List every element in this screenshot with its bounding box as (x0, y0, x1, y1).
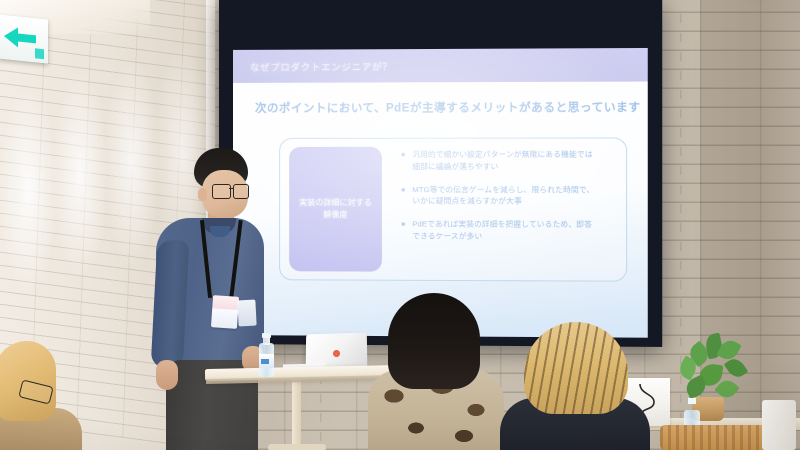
lanyard (202, 220, 242, 304)
bullet-text: PdEであれば実装の詳細を把握しているため、即答 できるケースが多い (412, 218, 592, 242)
bullet-text-line2: できるケースが多い (412, 231, 482, 240)
slide-purple-card: 実装の詳細に対する 解像度 (289, 147, 382, 272)
table-base (268, 444, 326, 450)
running-person-icon (35, 48, 44, 59)
id-badge-secondary (237, 300, 256, 327)
bullet-text-line2: いかに疑問点を減らすかが大事 (412, 196, 522, 205)
water-bottle-table (259, 333, 274, 377)
bullet-dot-icon: ● (399, 218, 407, 242)
presenter-hand-left (156, 360, 178, 390)
audience-member-dark-hair (388, 293, 480, 389)
presenter-ear (198, 188, 207, 201)
bullet-text: MTG等での伝言ゲームを減らし、限られた時間で、 いかに疑問点を減らすかが大事 (412, 184, 594, 208)
exit-arrow-left-icon (2, 24, 38, 52)
purple-card-label: 実装の詳細に対する 解像度 (294, 197, 377, 221)
bullet-text-line2: 細部に議論が落ちやすい (412, 162, 498, 171)
bullet-text-line1: MTG等での伝言ゲームを減らし、限られた時間で、 (412, 185, 594, 194)
slide-bullet-item: ● MTG等での伝言ゲームを減らし、限られた時間で、 いかに疑問点を減らすかが大… (399, 184, 618, 208)
purple-card-label-line2: 解像度 (323, 210, 347, 219)
presenter (150, 148, 272, 450)
presenter-arm (151, 239, 190, 368)
bullet-text-line1: PdEであれば実装の詳細を把握しているため、即答 (412, 219, 592, 228)
id-badge (211, 295, 239, 329)
paper-cup (762, 400, 796, 450)
emergency-exit-sign (0, 14, 48, 63)
bullet-dot-icon: ● (399, 184, 407, 208)
purple-card-label-line1: 実装の詳細に対する (299, 198, 372, 207)
slide-subheading: 次のポイントにおいて、PdEが主導するメリットがあると思っています (255, 99, 641, 116)
slide-bullet-list: ● 汎用的で細かい設定パターンが無限にある機能では 細部に議論が落ちやすい ● … (399, 149, 618, 254)
laptop-logo-icon (333, 350, 340, 357)
presentation-photo-scene: なぜプロダクトエンジニアが？ 次のポイントにおいて、PdEが主導するメリットがあ… (0, 0, 800, 450)
table-leg (292, 378, 301, 450)
slide-bullet-item: ● PdEであれば実装の詳細を把握しているため、即答 できるケースが多い (399, 218, 618, 242)
eyeglasses-icon (212, 184, 254, 198)
slide-header-band: なぜプロダクトエンジニアが？ (233, 48, 648, 83)
bullet-text: 汎用的で細かい設定パターンが無限にある機能では 細部に議論が落ちやすい (412, 149, 592, 173)
bullet-text-line1: 汎用的で細かい設定パターンが無限にある機能では (412, 150, 592, 159)
bullet-dot-icon: ● (399, 149, 407, 173)
wicker-basket (660, 425, 776, 450)
slide-content-outline-box: 実装の詳細に対する 解像度 ● 汎用的で細かい設定パターンが無限にある機能では … (279, 137, 627, 281)
slide-title: なぜプロダクトエンジニアが？ (250, 59, 392, 74)
slide-bullet-item: ● 汎用的で細かい設定パターンが無限にある機能では 細部に議論が落ちやすい (399, 149, 618, 173)
